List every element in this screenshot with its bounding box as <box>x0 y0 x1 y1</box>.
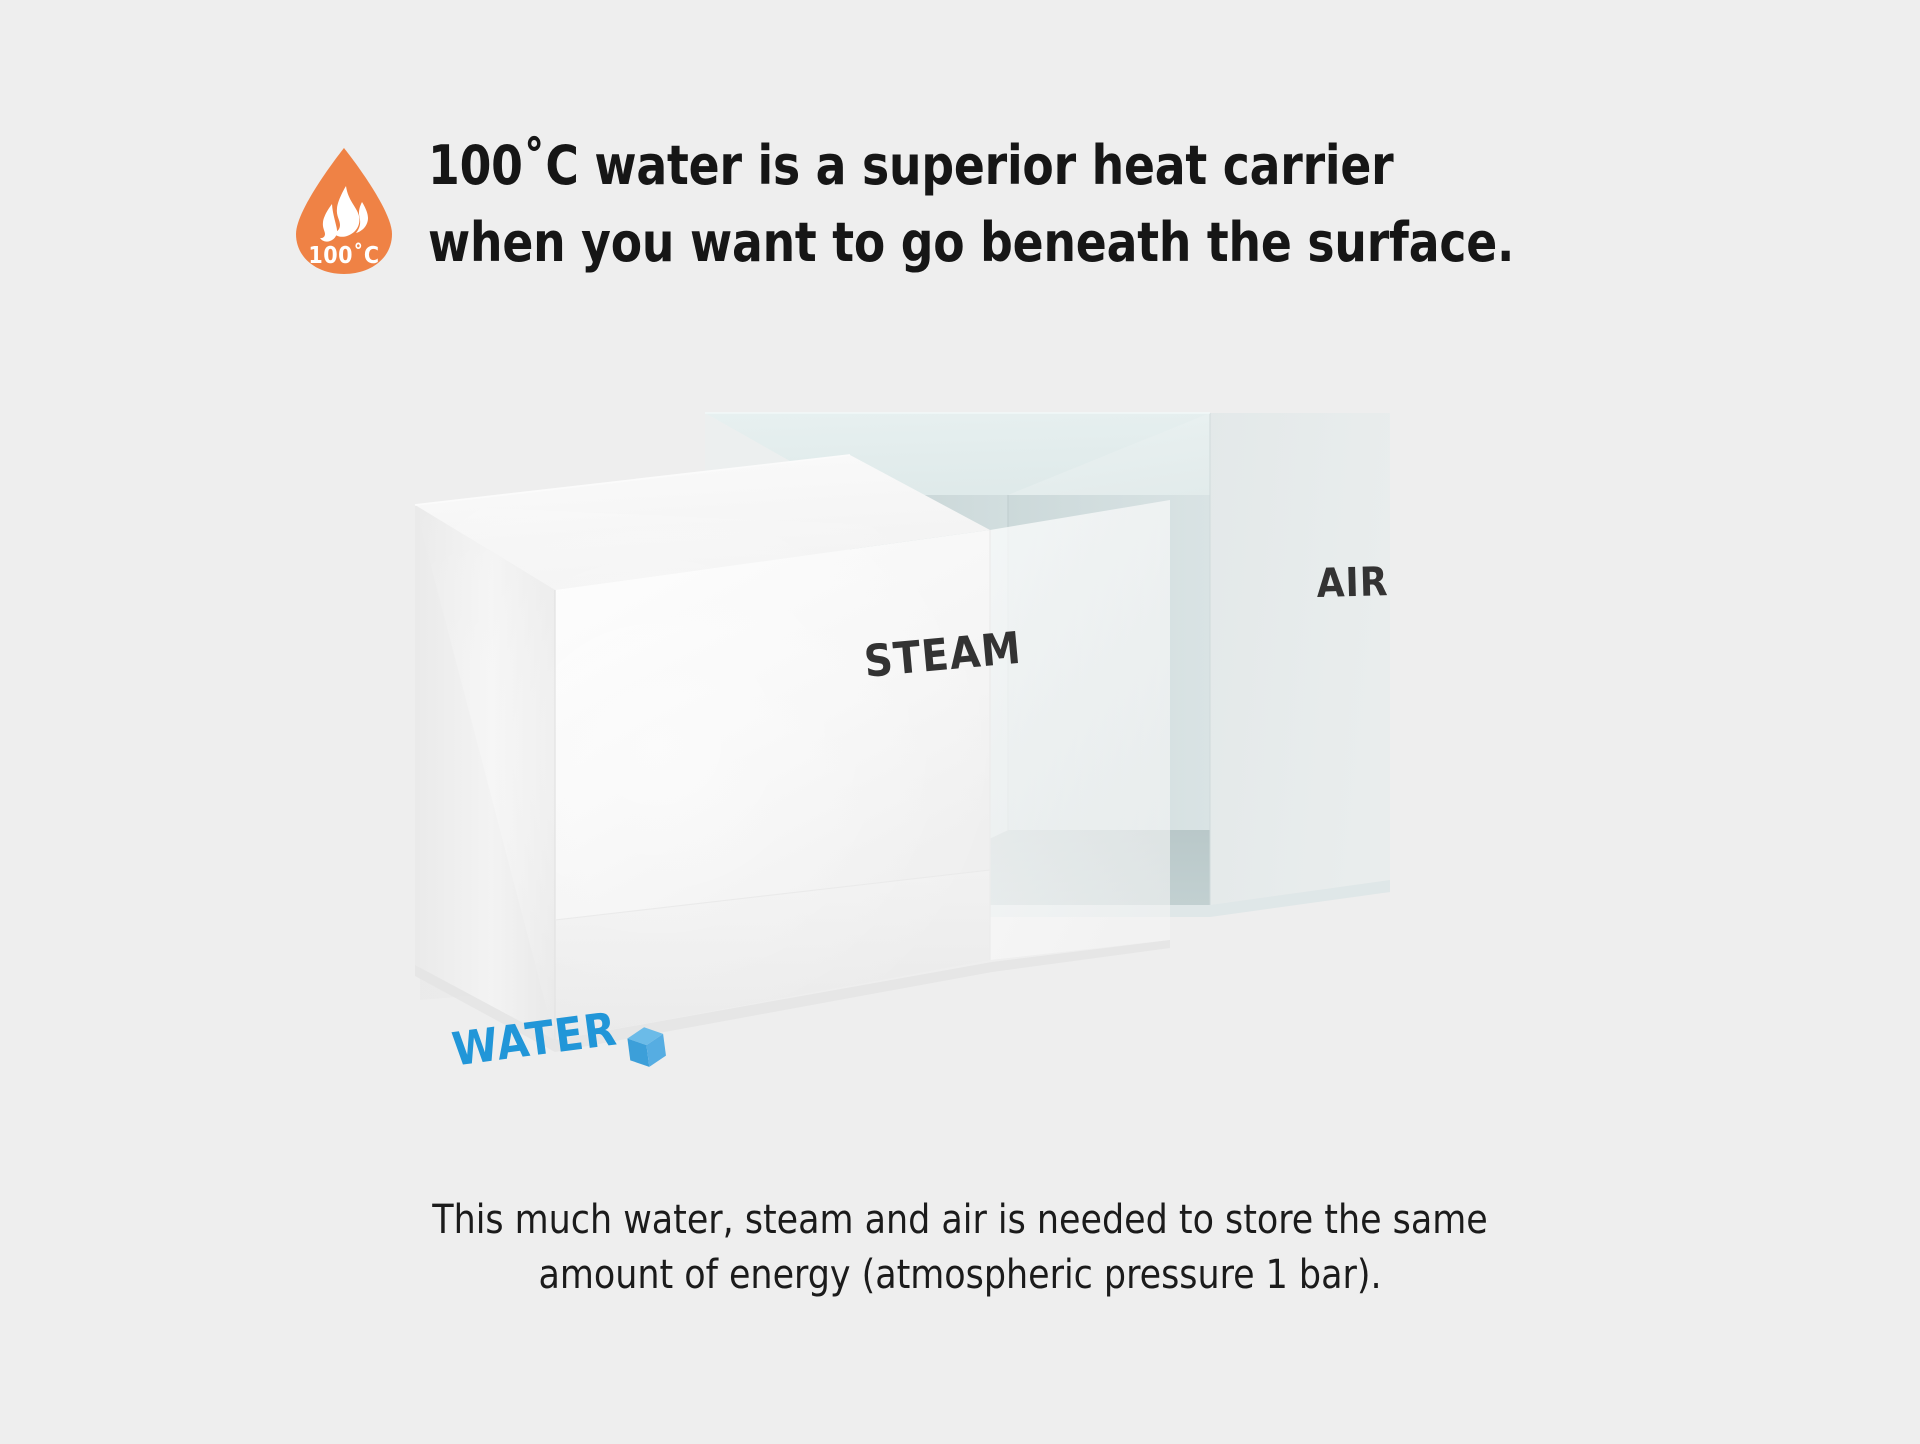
badge-temperature-text: 100˚C <box>308 242 379 269</box>
cube-comparison-illustration <box>380 400 1560 1080</box>
infographic-canvas: 100˚C 100˚C water is a superior heat car… <box>0 0 1920 1444</box>
headline-line-1: 100˚C water is a superior heat carrier <box>428 128 1612 205</box>
headline-line-2: when you want to go beneath the surface. <box>428 205 1612 282</box>
steam-cube <box>415 455 1170 1052</box>
caption-line-2: amount of energy (atmospheric pressure 1… <box>320 1248 1600 1303</box>
water-cube-icon <box>623 1023 670 1072</box>
flame-drop-icon: 100˚C <box>288 146 400 276</box>
page-title: 100˚C water is a superior heat carrier w… <box>428 128 1612 281</box>
caption: This much water, steam and air is needed… <box>320 1193 1600 1303</box>
air-label: AIR <box>1316 559 1389 607</box>
header: 100˚C 100˚C water is a superior heat car… <box>288 128 1688 308</box>
caption-line-1: This much water, steam and air is needed… <box>320 1193 1600 1248</box>
